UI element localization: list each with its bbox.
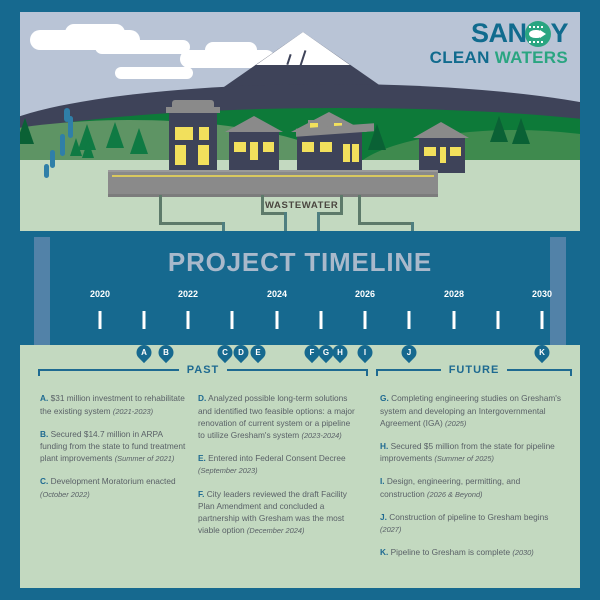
pipe-segment xyxy=(317,212,343,215)
window-shape xyxy=(175,145,186,165)
river-shape xyxy=(50,150,55,168)
timeline-band: PROJECT TIMELINE 20202022202420262028203… xyxy=(20,237,580,345)
timeline-tick xyxy=(497,311,500,329)
timeline-year-2022: 2022 xyxy=(178,289,198,299)
item-letter: H. xyxy=(380,441,388,451)
wastewater-label: WASTEWATER xyxy=(265,200,338,211)
item-letter: D. xyxy=(198,393,206,403)
timeline-marker-j[interactable]: J xyxy=(398,342,419,363)
timeline-year-2028: 2028 xyxy=(444,289,464,299)
tree-icon xyxy=(512,118,530,144)
item-date: (Summer of 2021) xyxy=(115,454,175,463)
river-shape xyxy=(64,108,70,122)
tree-icon xyxy=(20,118,34,144)
timeline-tick xyxy=(408,311,411,329)
building-roof xyxy=(413,122,469,138)
window-shape xyxy=(198,145,209,165)
item-date: (October 2022) xyxy=(40,490,90,499)
timeline-tick xyxy=(541,311,544,329)
item-date: (December 2024) xyxy=(247,526,305,535)
marker-letter: B xyxy=(159,345,174,360)
marker-letter: I xyxy=(358,345,373,360)
pipe-segment xyxy=(358,222,414,225)
window-shape xyxy=(250,142,258,160)
marker-letter: D xyxy=(234,345,249,360)
timeline-marker-b[interactable]: B xyxy=(155,342,176,363)
bracket-line-left xyxy=(376,369,441,371)
timeline-tick xyxy=(143,311,146,329)
window-shape xyxy=(320,142,332,152)
road-center-line xyxy=(112,175,434,177)
bracket-line-right xyxy=(507,369,572,371)
item-letter: A. xyxy=(40,393,48,403)
timeline-year-2020: 2020 xyxy=(90,289,110,299)
timeline-item-j: J. Construction of pipeline to Gresham b… xyxy=(380,511,565,536)
timeline-year-2030: 2030 xyxy=(532,289,552,299)
pipe-segment xyxy=(159,195,162,225)
timeline-item-g: G. Completing engineering studies on Gre… xyxy=(380,392,565,430)
window-shape xyxy=(263,142,274,152)
timeline-item-b: B. Secured $14.7 million in ARPA funding… xyxy=(40,428,188,466)
logo-wordmark-bottom: CLEAN WATERS xyxy=(430,49,568,66)
timeline-item-e: E. Entered into Federal Consent Decree (… xyxy=(198,452,358,477)
past-heading-label: PAST xyxy=(179,364,228,376)
item-date: (2023-2024) xyxy=(301,431,341,440)
fish-icon xyxy=(525,21,551,47)
timeline-tick xyxy=(276,311,279,329)
pipe-drop xyxy=(317,212,320,232)
item-letter: F. xyxy=(198,489,204,499)
logo-text-clean: CLEAN xyxy=(430,48,490,67)
window-shape xyxy=(450,147,461,156)
logo-text-y: Y xyxy=(550,20,568,47)
timeline-tick xyxy=(364,311,367,329)
item-letter: I. xyxy=(380,476,385,486)
timeline-tick xyxy=(99,311,102,329)
item-letter: J. xyxy=(380,512,387,522)
pipe-segment xyxy=(159,222,225,225)
item-letter: C. xyxy=(40,476,48,486)
timeline-marker-k[interactable]: K xyxy=(531,342,552,363)
logo-wordmark-top: SAN Y xyxy=(430,20,568,47)
logo-text-sand: SAN xyxy=(471,20,527,47)
window-shape xyxy=(440,147,446,163)
item-date: (2030) xyxy=(512,548,533,557)
marker-letter: C xyxy=(218,345,233,360)
tree-icon xyxy=(82,140,94,158)
item-date: (2021-2023) xyxy=(113,407,153,416)
timeline-marker-i[interactable]: I xyxy=(354,342,375,363)
past-column-2: D. Analyzed possible long-term solutions… xyxy=(198,384,358,547)
timeline-marker-h[interactable]: H xyxy=(329,342,350,363)
bracket-line-left xyxy=(38,369,179,371)
timeline-item-k: K. Pipeline to Gresham is complete (2030… xyxy=(380,546,565,559)
tree-icon xyxy=(70,138,82,156)
window-shape xyxy=(302,142,314,152)
timeline-item-f: F. City leaders reviewed the draft Facil… xyxy=(198,488,358,538)
item-date: (2026 & Beyond) xyxy=(427,490,482,499)
bracket-line-right xyxy=(227,369,368,371)
item-date: (September 2023) xyxy=(198,466,258,475)
timeline-item-d: D. Analyzed possible long-term solutions… xyxy=(198,392,358,442)
past-column-1: A. $31 million investment to rehabilitat… xyxy=(40,384,188,511)
building-roof xyxy=(225,116,283,132)
future-heading-label: FUTURE xyxy=(441,364,508,376)
item-date: (2025) xyxy=(445,419,466,428)
marker-letter: A xyxy=(137,345,152,360)
timeline-item-c: C. Development Moratorium enacted (Octob… xyxy=(40,475,188,500)
item-letter: G. xyxy=(380,393,389,403)
cloud-icon xyxy=(95,40,190,54)
river-shape xyxy=(44,164,49,178)
timeline-tick xyxy=(187,311,190,329)
pipe-segment xyxy=(358,195,361,225)
marker-letter: E xyxy=(251,345,266,360)
window-shape xyxy=(234,142,246,152)
timeline-tick xyxy=(231,311,234,329)
tree-icon xyxy=(106,122,124,148)
tree-icon xyxy=(490,116,508,142)
marker-letter: K xyxy=(535,345,550,360)
timeline-year-2026: 2026 xyxy=(355,289,375,299)
logo: SAN Y CLEAN WATERS xyxy=(430,20,568,66)
tree-icon xyxy=(130,128,148,154)
item-date: (2027) xyxy=(380,525,401,534)
item-letter: K. xyxy=(380,547,388,557)
past-heading: PAST xyxy=(38,364,368,376)
river-shape xyxy=(60,134,65,156)
window-shape xyxy=(175,127,193,140)
timeline-item-h: H. Secured $5 million from the state for… xyxy=(380,440,565,465)
future-column: G. Completing engineering studies on Gre… xyxy=(380,384,565,569)
window-shape xyxy=(352,144,359,162)
item-letter: B. xyxy=(40,429,48,439)
timeline-marker-d[interactable]: D xyxy=(230,342,251,363)
window-shape xyxy=(199,127,209,140)
timeline-tick xyxy=(453,311,456,329)
timeline-item-a: A. $31 million investment to rehabilitat… xyxy=(40,392,188,417)
marker-letter: J xyxy=(402,345,417,360)
timeline-marker-e[interactable]: E xyxy=(247,342,268,363)
page-title: PROJECT TIMELINE xyxy=(20,247,580,278)
landscape-illustration: WASTEWATER SAN Y CLEAN WATERS xyxy=(20,12,580,237)
infographic-frame: WASTEWATER SAN Y CLEAN WATERS xyxy=(20,12,580,588)
pipe-drop xyxy=(284,212,287,232)
logo-text-waters: WATERS xyxy=(495,48,568,67)
timeline-year-labels: 202020222024202620282030 xyxy=(20,289,580,303)
future-heading: FUTURE xyxy=(376,364,572,376)
marker-letter: H xyxy=(333,345,348,360)
timeline-item-i: I. Design, engineering, permitting, and … xyxy=(380,475,565,500)
cloud-icon xyxy=(115,67,193,79)
window-shape xyxy=(343,144,350,162)
timeline-tick xyxy=(320,311,323,329)
item-date: (Summer of 2025) xyxy=(434,454,494,463)
window-shape xyxy=(424,147,436,156)
item-letter: E. xyxy=(198,453,206,463)
timeline-year-2024: 2024 xyxy=(267,289,287,299)
timeline-marker-a[interactable]: A xyxy=(133,342,154,363)
road-shadow xyxy=(108,194,438,197)
